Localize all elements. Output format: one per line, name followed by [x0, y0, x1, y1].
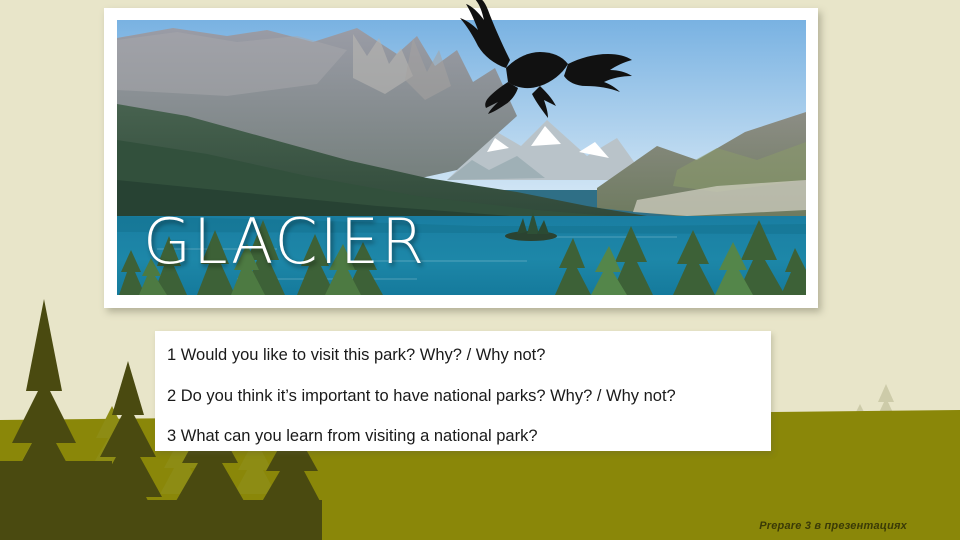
question-item-1: 1 Would you like to visit this park? Why…: [167, 345, 759, 366]
presentation-slide: GLACIER 1 Would you like to visit this p…: [0, 0, 960, 540]
question-item-2: 2 Do you think it’s important to have na…: [167, 386, 759, 407]
photo-title-glacier: GLACIER: [143, 211, 426, 273]
question-item-3: 3 What can you learn from visiting a nat…: [167, 426, 759, 447]
eagle-silhouette-icon: [444, 0, 634, 122]
questions-text-box: 1 Would you like to visit this park? Why…: [155, 331, 771, 451]
footer-credit: Prepare 3 в презентациях: [759, 520, 907, 532]
